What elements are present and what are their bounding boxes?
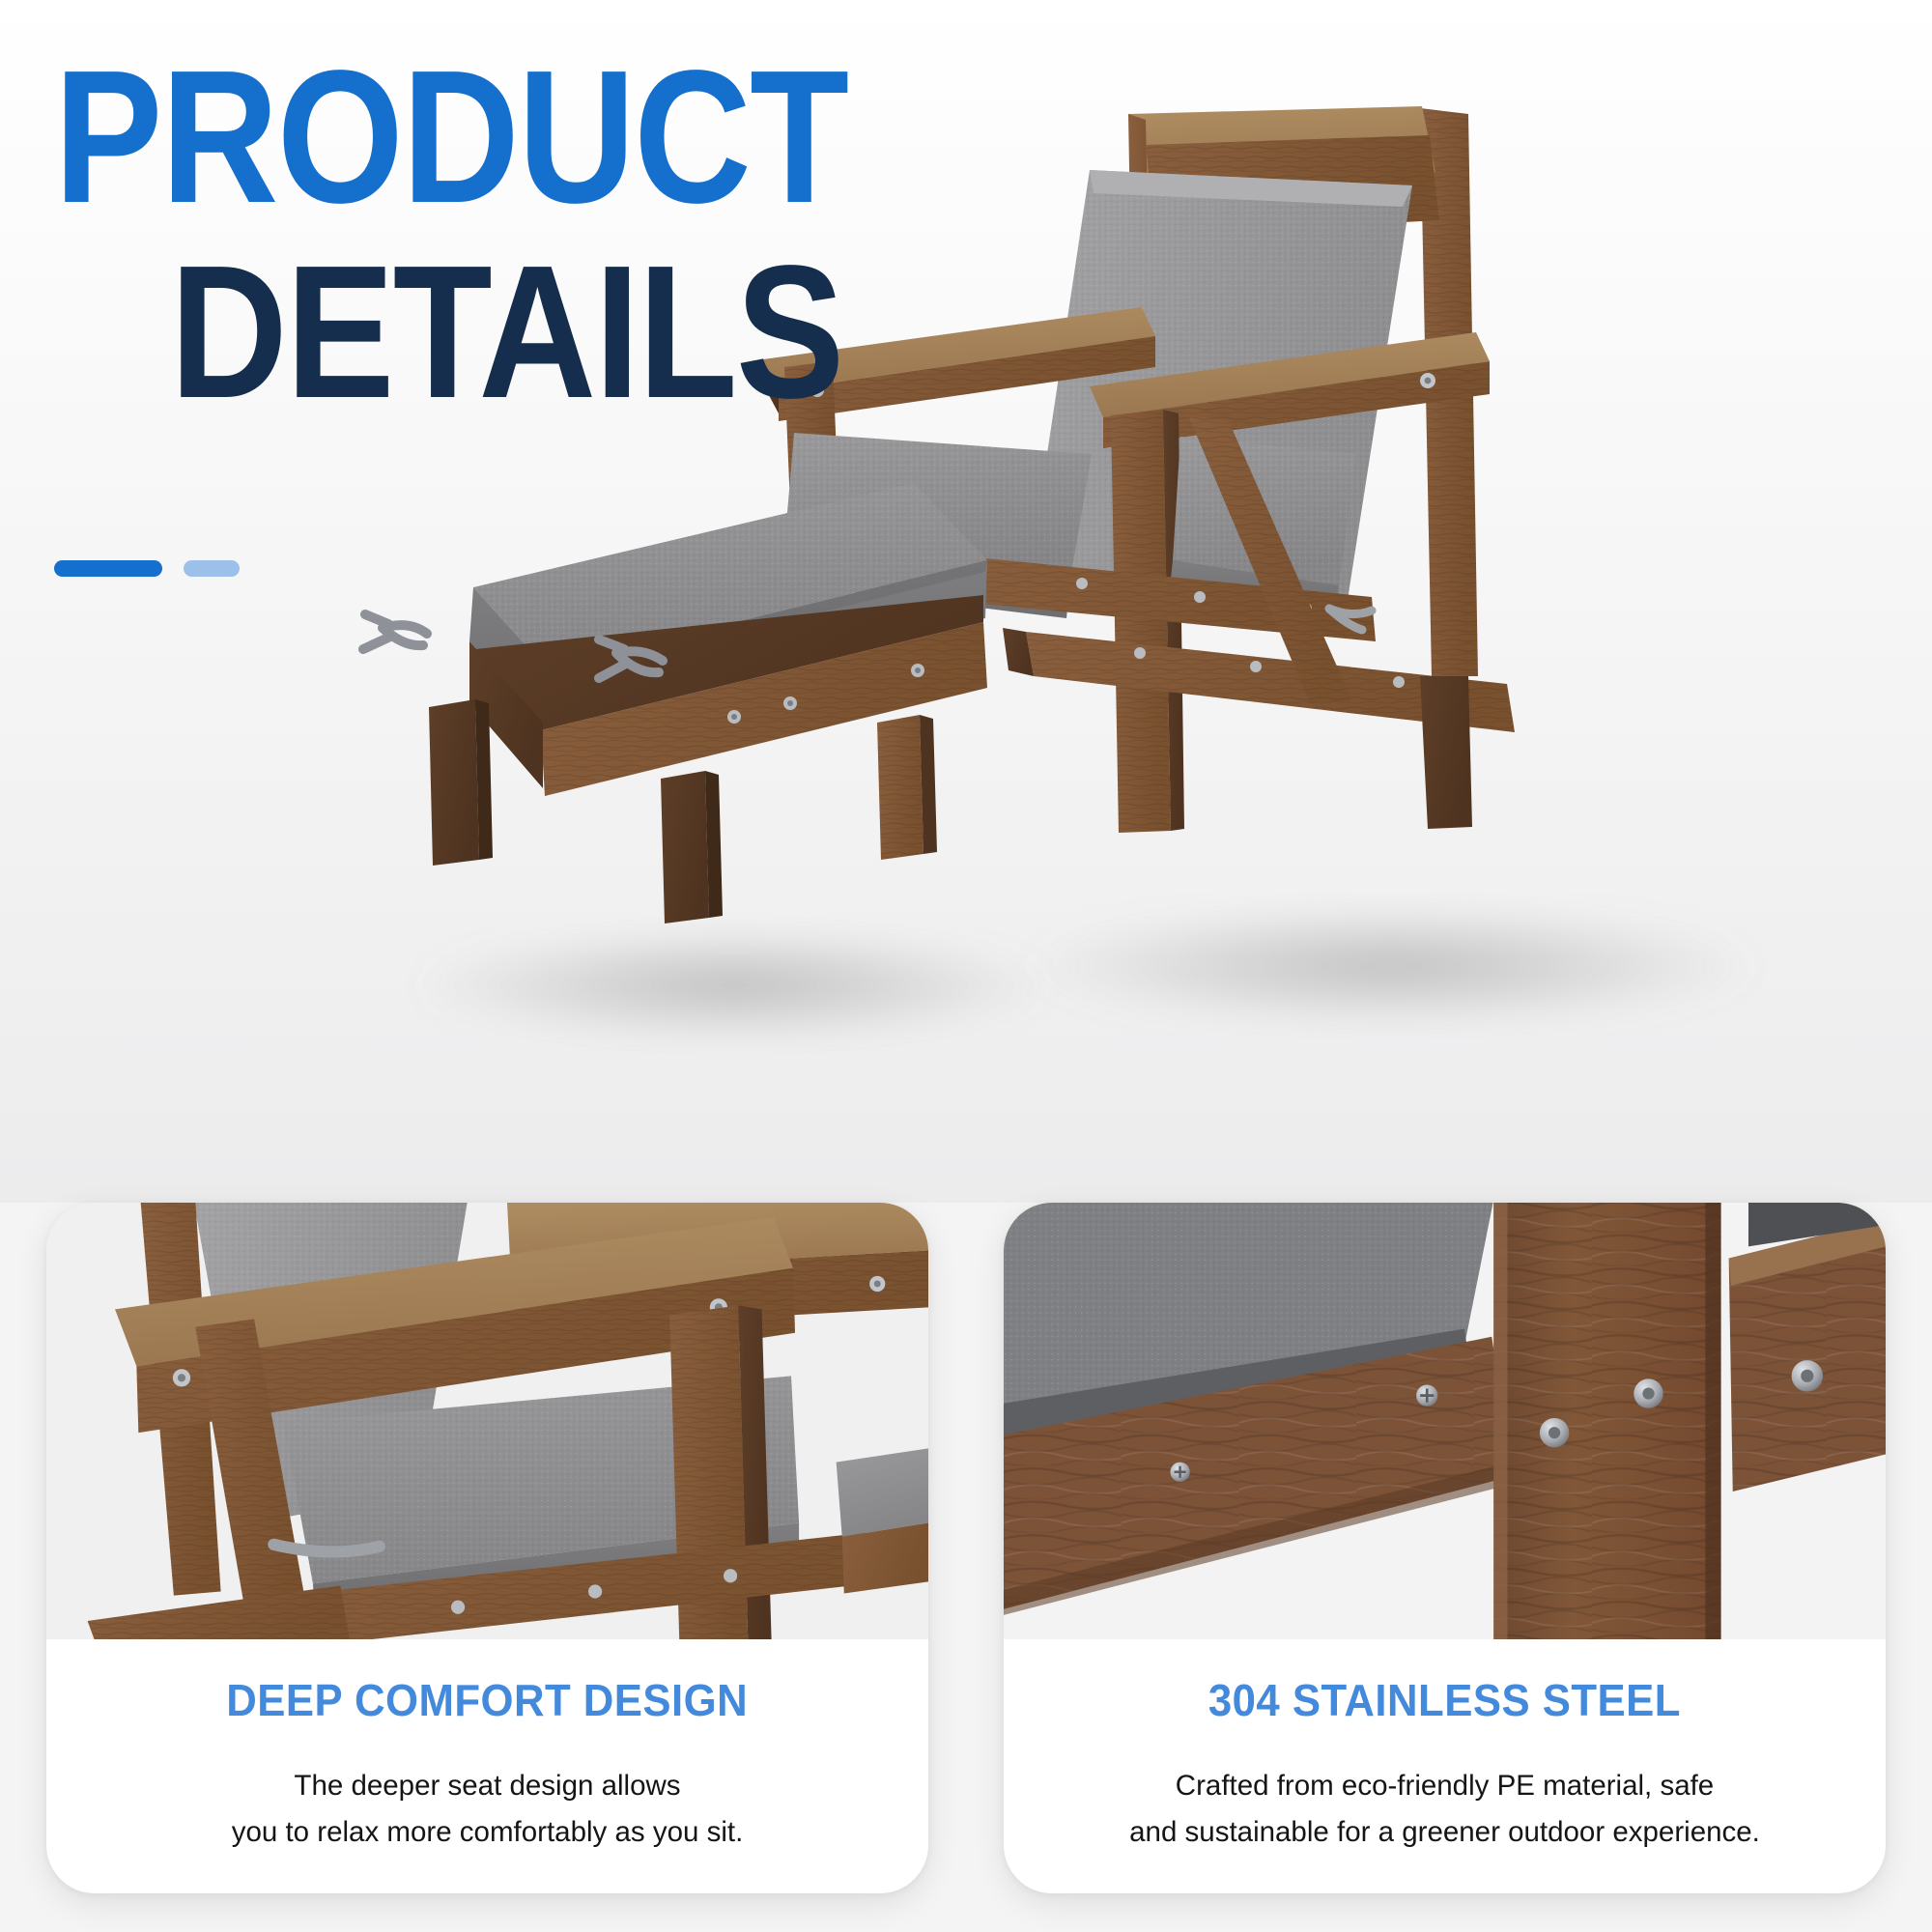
feature-cards: DEEP COMFORT DESIGN The deeper seat desi… (0, 1203, 1932, 1932)
accent-dashes (54, 560, 240, 577)
page-title: PRODUCT DETAILS (54, 50, 977, 420)
card-text-304-stainless-steel: Crafted from eco-friendly PE material, s… (1129, 1763, 1760, 1856)
feature-card-deep-comfort-design[interactable]: DEEP COMFORT DESIGN The deeper seat desi… (46, 1203, 928, 1893)
card-body-deep-comfort-design: DEEP COMFORT DESIGN The deeper seat desi… (46, 1639, 928, 1893)
accent-dash-short (184, 560, 240, 577)
card-text-deep-comfort-design: The deeper seat design allows you to rel… (232, 1763, 744, 1856)
title-line-details: DETAILS (170, 245, 864, 419)
hero-section: PRODUCT DETAILS (0, 0, 1932, 1203)
card-photo-304-stainless-steel (1004, 1203, 1886, 1639)
title-line-product: PRODUCT (54, 50, 847, 224)
feature-card-304-stainless-steel[interactable]: 304 STAINLESS STEEL Crafted from eco-fri… (1004, 1203, 1886, 1893)
accent-dash-long (54, 560, 162, 577)
card-heading-304-stainless-steel: 304 STAINLESS STEEL (1208, 1674, 1681, 1726)
card-heading-deep-comfort-design: DEEP COMFORT DESIGN (227, 1674, 749, 1726)
card-photo-deep-comfort-design (46, 1203, 928, 1639)
card-body-304-stainless-steel: 304 STAINLESS STEEL Crafted from eco-fri… (1004, 1639, 1886, 1893)
